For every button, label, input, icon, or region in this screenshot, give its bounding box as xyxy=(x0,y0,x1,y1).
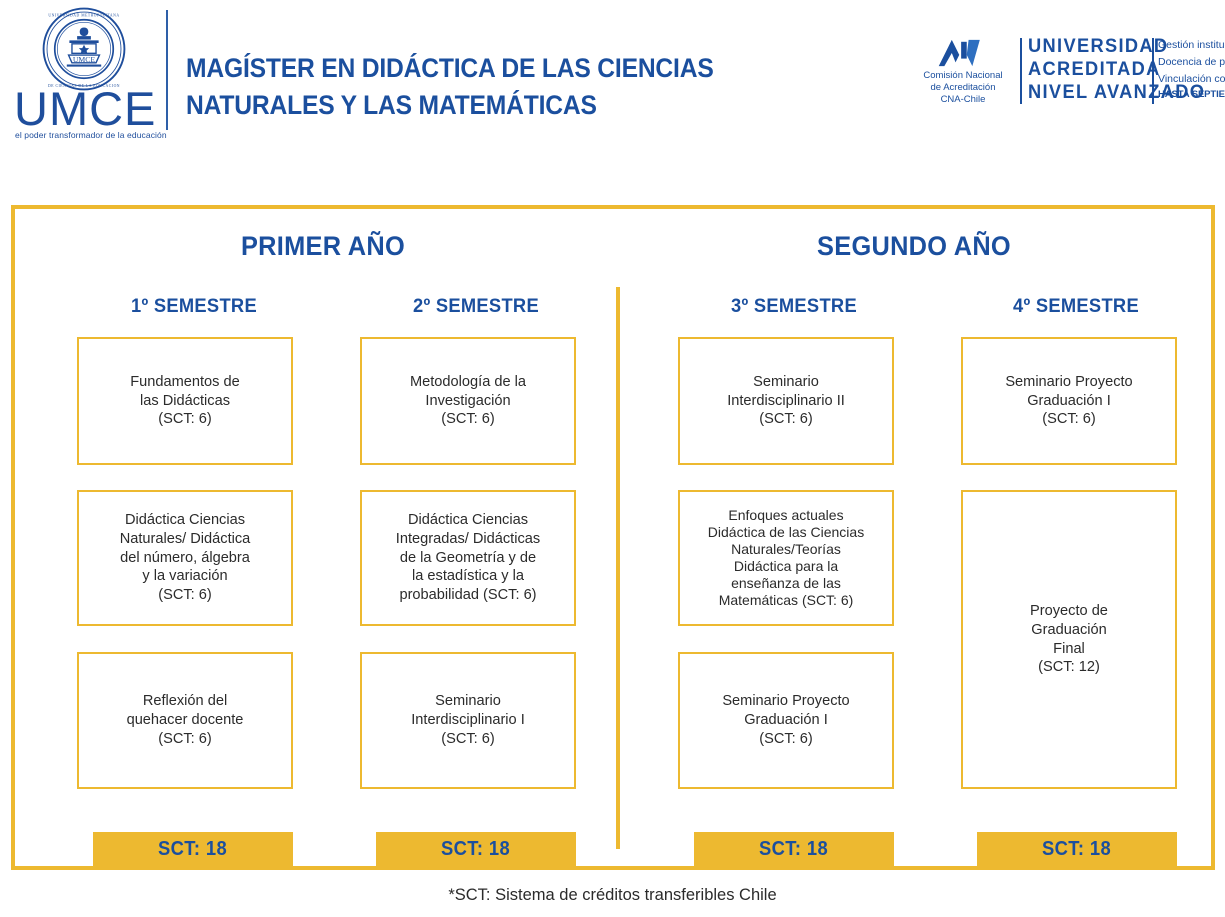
page-header: UMCE UNIVERSIDAD METROPOLITANA DE CIENCI… xyxy=(0,0,1225,185)
accreditation-status-line-3: NIVEL AVANZADO xyxy=(1028,82,1145,105)
sct-total-semestre-1: SCT: 18 xyxy=(93,832,293,866)
course-label: Didáctica Ciencias Naturales/ Didáctica … xyxy=(120,511,251,606)
accreditation-status: UNIVERSIDAD ACREDITADA NIVEL AVANZADO xyxy=(1028,36,1150,104)
accreditation-area-2: Vinculación con el medio xyxy=(1158,71,1225,88)
course-box-s3-c3[interactable]: Seminario Proyecto Graduación I (SCT: 6) xyxy=(678,652,894,789)
umce-tagline: el poder transformador de la educación xyxy=(15,130,175,140)
accreditation-divider-2 xyxy=(1152,38,1154,104)
year-title-segundo-ano: SEGUNDO AÑO xyxy=(646,231,1182,262)
course-label: Seminario Proyecto Graduación I (SCT: 6) xyxy=(1005,373,1132,430)
program-curriculum-page: UMCE UNIVERSIDAD METROPOLITANA DE CIENCI… xyxy=(0,0,1225,917)
sct-total-label: SCT: 18 xyxy=(441,838,510,861)
semester-title-3: 3º SEMESTRE xyxy=(690,295,899,318)
course-box-s1-c3[interactable]: Reflexión del quehacer docente (SCT: 6) xyxy=(77,652,293,789)
page-title: MAGÍSTER EN DIDÁCTICA DE LAS CIENCIAS NA… xyxy=(186,50,837,123)
course-box-s1-c1[interactable]: Fundamentos de las Didácticas (SCT: 6) xyxy=(77,337,293,465)
course-label: Metodología de la Investigación (SCT: 6) xyxy=(410,373,526,430)
sct-total-label: SCT: 18 xyxy=(759,838,828,861)
course-label: Proyecto de Graduación Final (SCT: 12) xyxy=(1030,602,1108,678)
course-box-s1-c2[interactable]: Didáctica Ciencias Naturales/ Didáctica … xyxy=(77,490,293,626)
cna-agency-line-1: Comisión Nacional xyxy=(908,70,1018,82)
accreditation-divider-1 xyxy=(1020,38,1022,104)
course-box-s2-c3[interactable]: Seminario Interdisciplinario I (SCT: 6) xyxy=(360,652,576,789)
course-label: Seminario Interdisciplinario I (SCT: 6) xyxy=(411,692,525,749)
accreditation-areas: Gestión institucional Docencia de pregra… xyxy=(1158,37,1225,103)
sct-total-semestre-4: SCT: 18 xyxy=(977,832,1177,866)
umce-logo: UMCE UNIVERSIDAD METROPOLITANA DE CIENCI… xyxy=(14,6,162,138)
course-label: Seminario Proyecto Graduación I (SCT: 6) xyxy=(722,692,849,749)
accreditation-valid-until: HASTA SEPTIEMBRE 2027 xyxy=(1158,87,1225,102)
sct-total-label: SCT: 18 xyxy=(158,838,227,861)
header-divider xyxy=(166,10,168,130)
umce-wordmark: UMCE xyxy=(14,85,162,132)
svg-text:UNIVERSIDAD METROPOLITANA: UNIVERSIDAD METROPOLITANA xyxy=(48,13,119,17)
accreditation-status-line-2: ACREDITADA xyxy=(1028,59,1145,82)
cna-agency-line-2: de Acreditación xyxy=(908,82,1018,94)
course-label: Reflexión del quehacer docente (SCT: 6) xyxy=(127,692,244,749)
course-box-s3-c2[interactable]: Enfoques actuales Didáctica de las Cienc… xyxy=(678,490,894,626)
accreditation-badge: Comisión Nacional de Acreditación CNA-Ch… xyxy=(908,36,1208,106)
year-title-primer-ano: PRIMER AÑO xyxy=(50,231,595,262)
course-label: Fundamentos de las Didácticas (SCT: 6) xyxy=(130,373,240,430)
course-label: Enfoques actuales Didáctica de las Cienc… xyxy=(708,507,864,609)
semester-title-2: 2º SEMESTRE xyxy=(372,295,581,318)
cna-logo-icon xyxy=(935,38,991,68)
accreditation-area-0: Gestión institucional xyxy=(1158,37,1225,54)
accreditation-area-1: Docencia de pregrado xyxy=(1158,54,1225,71)
course-box-s4-c1[interactable]: Seminario Proyecto Graduación I (SCT: 6) xyxy=(961,337,1177,465)
course-box-s3-c1[interactable]: Seminario Interdisciplinario II (SCT: 6) xyxy=(678,337,894,465)
course-box-s4-c2[interactable]: Proyecto de Graduación Final (SCT: 12) xyxy=(961,490,1177,789)
semester-title-1: 1º SEMESTRE xyxy=(90,295,299,318)
year-divider xyxy=(616,287,620,849)
svg-text:UMCE: UMCE xyxy=(73,55,96,64)
semester-title-4: 4º SEMESTRE xyxy=(972,295,1181,318)
sct-total-semestre-3: SCT: 18 xyxy=(694,832,894,866)
sct-total-label: SCT: 18 xyxy=(1042,838,1111,861)
sct-total-semestre-2: SCT: 18 xyxy=(376,832,576,866)
cna-block: Comisión Nacional de Acreditación CNA-Ch… xyxy=(908,36,1018,106)
sct-footnote: *SCT: Sistema de créditos transferibles … xyxy=(0,886,1225,905)
university-seal-icon: UMCE UNIVERSIDAD METROPOLITANA DE CIENCI… xyxy=(41,6,127,92)
curriculum-frame: PRIMER AÑO SEGUNDO AÑO 1º SEMESTRE 2º SE… xyxy=(11,205,1215,870)
cna-agency-line-3: CNA-Chile xyxy=(908,94,1018,106)
course-label: Seminario Interdisciplinario II (SCT: 6) xyxy=(727,373,845,430)
course-box-s2-c2[interactable]: Didáctica Ciencias Integradas/ Didáctica… xyxy=(360,490,576,626)
accreditation-status-line-1: UNIVERSIDAD xyxy=(1028,36,1145,59)
course-box-s2-c1[interactable]: Metodología de la Investigación (SCT: 6) xyxy=(360,337,576,465)
course-label: Didáctica Ciencias Integradas/ Didáctica… xyxy=(396,511,540,606)
